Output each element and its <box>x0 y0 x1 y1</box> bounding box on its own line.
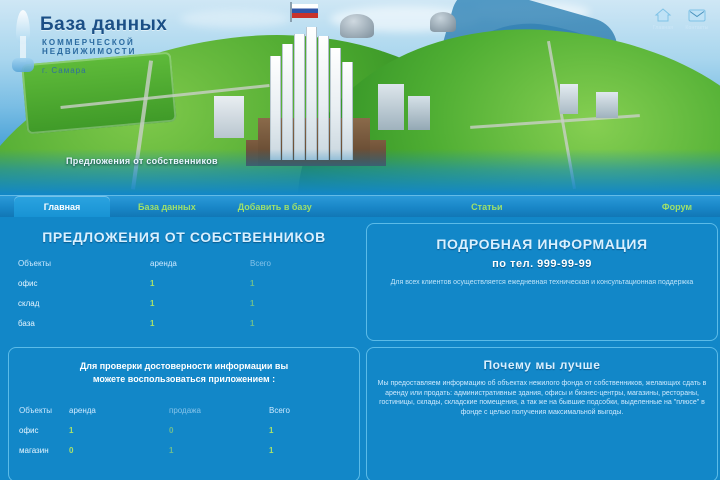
col-rent: аренда <box>69 400 169 420</box>
row-label: база <box>18 313 150 333</box>
building <box>408 96 430 130</box>
home-glyph <box>653 6 673 24</box>
mail-icon[interactable]: Контакты <box>684 6 710 36</box>
row-label: офис <box>18 273 150 293</box>
nav-item-forum[interactable]: Форум <box>648 196 706 217</box>
hero-caption: Предложения от собственников <box>66 156 218 166</box>
support-blurb: Для всех клиентов осуществляется ежеднев… <box>377 278 707 288</box>
hero-banner: База данных КОММЕРЧЕСКОЙ НЕДВИЖИМОСТИ г.… <box>0 0 720 195</box>
nav-gap <box>210 196 224 217</box>
page-root: База данных КОММЕРЧЕСКОЙ НЕДВИЖИМОСТИ г.… <box>0 0 720 480</box>
building <box>214 96 244 138</box>
row-rent: 1 <box>150 273 250 293</box>
panel-why-we-are-better: Почему мы лучше Мы предоставляем информа… <box>366 347 718 480</box>
row-total: 1 <box>250 273 350 293</box>
nav-right-spacer <box>706 196 720 217</box>
row-label: офис <box>19 420 69 440</box>
table-header-row: Объекты аренда Всего <box>18 253 350 273</box>
home-icon-caption: Главная <box>653 25 673 31</box>
col-objects: Объекты <box>19 400 69 420</box>
owner-offers-table: Объекты аренда Всего офис 1 1 склад 1 1 <box>18 253 350 333</box>
central-tower <box>268 20 360 160</box>
table-row: база 1 1 <box>18 313 350 333</box>
row-total: 1 <box>250 313 350 333</box>
panel-detailed-information: ПОДРОБНАЯ ИНФОРМАЦИЯ по тел. 999-99-99 Д… <box>366 223 718 341</box>
building <box>596 92 618 118</box>
nav-flex-spacer <box>517 196 648 217</box>
table-row: офис 1 1 <box>18 273 350 293</box>
row-sale: 1 <box>169 440 269 460</box>
logo-subtitle: КОММЕРЧЕСКОЙ НЕДВИЖИМОСТИ <box>42 38 212 56</box>
table-row: офис 1 0 1 <box>19 420 349 440</box>
row-rent: 1 <box>150 293 250 313</box>
owner-offers-title: ПРЕДЛОЖЕНИЯ ОТ СОБСТВЕННИКОВ <box>18 229 350 245</box>
table-row: склад 1 1 <box>18 293 350 313</box>
col-rent: аренда <box>150 253 250 273</box>
nav-left-spacer <box>0 196 14 217</box>
row-total: 1 <box>250 293 350 313</box>
content-area: ПРЕДЛОЖЕНИЯ ОТ СОБСТВЕННИКОВ Объекты аре… <box>0 217 720 480</box>
verification-table: Объекты аренда продажа Всего офис 1 0 1 … <box>19 400 349 460</box>
nav-item-database[interactable]: База данных <box>124 196 210 217</box>
main-navigation: Главная База данных Добавить в базу Стат… <box>0 195 720 217</box>
row-total: 1 <box>269 420 349 440</box>
col-sale: продажа <box>169 400 269 420</box>
col-total: Всего <box>269 400 349 420</box>
verify-heading-line2: можете воспользоваться приложением : <box>19 373 349 386</box>
nav-item-home[interactable]: Главная <box>14 196 110 217</box>
domed-building <box>430 12 456 32</box>
nav-item-articles[interactable]: Статьи <box>457 196 516 217</box>
row-rent: 1 <box>150 313 250 333</box>
home-icon[interactable]: Главная <box>650 6 676 36</box>
row-rent: 1 <box>69 420 169 440</box>
building <box>560 84 578 114</box>
building <box>378 84 404 130</box>
row-label: магазин <box>19 440 69 460</box>
detailed-info-title: ПОДРОБНАЯ ИНФОРМАЦИЯ <box>377 236 707 252</box>
row-sale: 0 <box>169 420 269 440</box>
contact-phone: по тел. 999-99-99 <box>377 258 707 270</box>
why-title: Почему мы лучше <box>377 358 707 372</box>
col-objects: Объекты <box>18 253 150 273</box>
nav-gap <box>110 196 124 217</box>
row-total: 1 <box>269 440 349 460</box>
top-icon-bar: Главная Контакты <box>650 6 710 36</box>
nav-flex-spacer <box>326 196 457 217</box>
why-body-text: Мы предоставляем информацию об объектах … <box>377 379 707 417</box>
logo-title: База данных <box>40 14 167 36</box>
droplet-logo-icon <box>10 10 36 72</box>
row-label: склад <box>18 293 150 313</box>
row-rent: 0 <box>69 440 169 460</box>
logo-city: г. Самара <box>42 66 87 75</box>
table-row: магазин 0 1 1 <box>19 440 349 460</box>
nav-item-add-to-database[interactable]: Добавить в базу <box>224 196 326 217</box>
russian-flag-icon <box>292 4 318 18</box>
panel-verification: Для проверки достоверности информации вы… <box>8 347 360 480</box>
mail-glyph <box>687 6 707 24</box>
panel-owner-offers: ПРЕДЛОЖЕНИЯ ОТ СОБСТВЕННИКОВ Объекты аре… <box>8 223 360 341</box>
col-total: Всего <box>250 253 350 273</box>
table-header-row: Объекты аренда продажа Всего <box>19 400 349 420</box>
verify-heading-line1: Для проверки достоверности информации вы <box>19 354 349 373</box>
site-logo[interactable]: База данных КОММЕРЧЕСКОЙ НЕДВИЖИМОСТИ г.… <box>10 8 220 78</box>
mail-icon-caption: Контакты <box>685 25 708 31</box>
